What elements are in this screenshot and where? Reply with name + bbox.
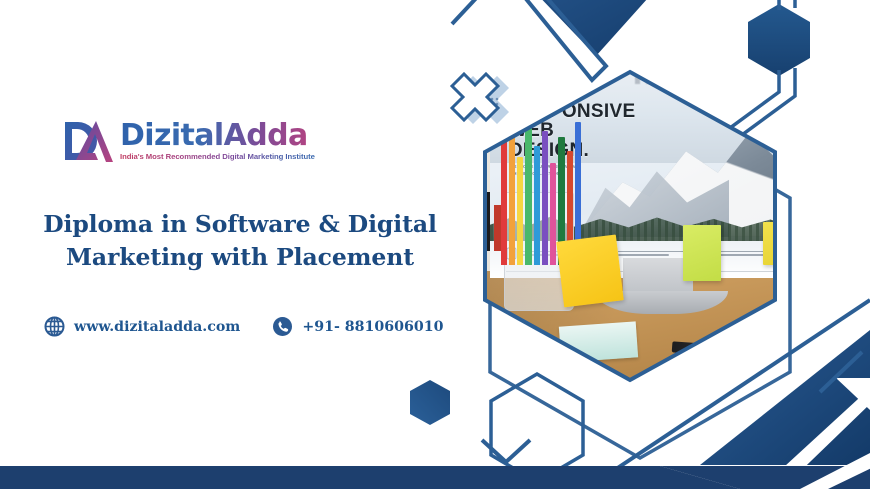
contact-row: www.dizitaladda.com +91- 8810606010: [44, 316, 444, 337]
phone-icon: [272, 316, 293, 337]
brand-logo[interactable]: DizitalAdda India's Most Recommended Dig…: [62, 118, 315, 164]
brand-tagline: India's Most Recommended Digital Marketi…: [120, 153, 315, 161]
brand-name: DizitalAdda: [120, 121, 315, 151]
website-contact[interactable]: www.dizitaladda.com: [44, 316, 240, 337]
hero-photo-hexagon: RESPONSIVE WEB DESIGN. EXPLORE OUR RESPO…: [455, 60, 805, 390]
sticky-note: [763, 222, 802, 265]
photo-content: RESPONSIVE WEB DESIGN. EXPLORE OUR RESPO…: [455, 60, 805, 390]
da-monogram-icon: [62, 118, 114, 164]
globe-icon: [44, 316, 65, 337]
hexagon-photo-frame: RESPONSIVE WEB DESIGN. EXPLORE OUR RESPO…: [455, 60, 805, 390]
sticky-note: [556, 235, 623, 308]
phone-contact[interactable]: +91- 8810606010: [272, 316, 443, 337]
website-label: www.dizitaladda.com: [74, 319, 240, 335]
hexagon-outline-bottom: [491, 374, 583, 482]
phone-label: +91- 8810606010: [302, 319, 443, 335]
chevron-down-icon: [482, 440, 530, 462]
bottom-bar: [0, 452, 870, 489]
banner-canvas: RESPONSIVE WEB DESIGN. EXPLORE OUR RESPO…: [0, 0, 870, 489]
hexagon-filled-small-bottom: [410, 380, 450, 425]
notebook: [559, 321, 638, 363]
page-title: Diploma in Software & Digital Marketing …: [40, 208, 440, 275]
sticky-note: [683, 225, 722, 281]
